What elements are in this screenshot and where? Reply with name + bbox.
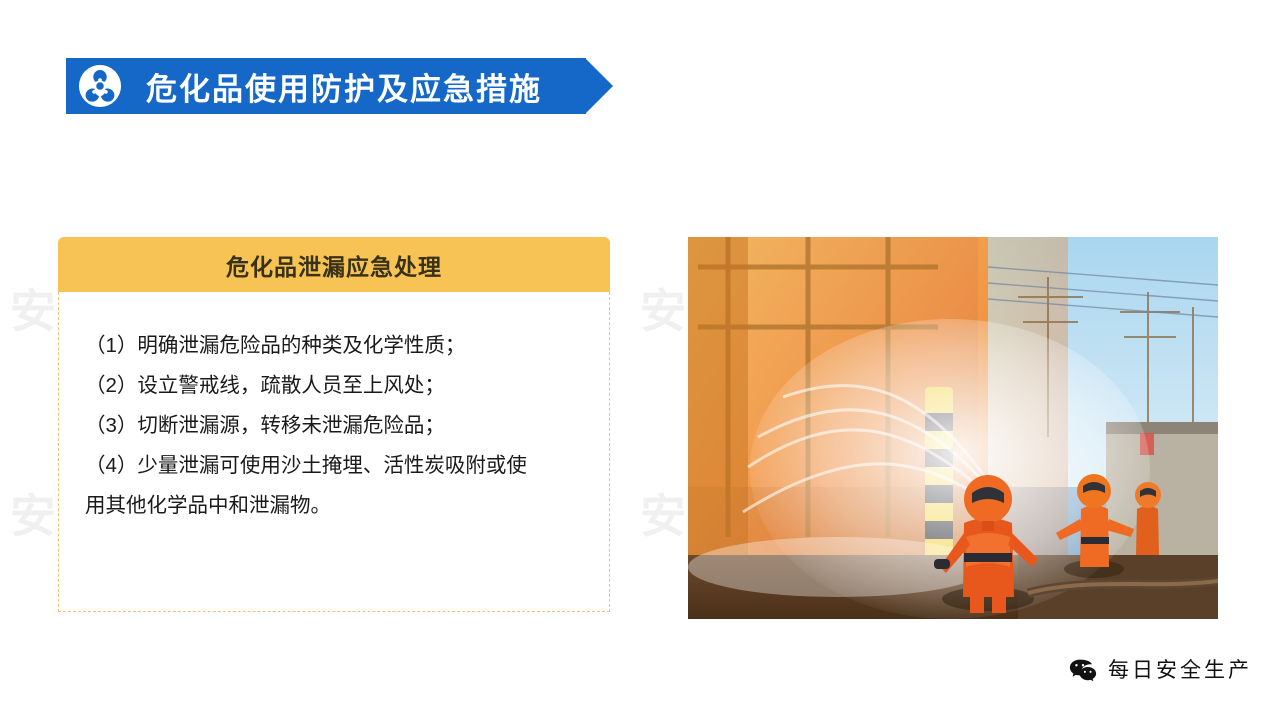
biohazard-icon (79, 65, 121, 107)
header-icon-badge (66, 58, 134, 114)
card-title: 危化品泄漏应急处理 (226, 248, 442, 282)
card-line-1: （1）明确泄漏危险品的种类及化学性质； (85, 326, 583, 366)
card-line-4: （4）少量泄漏可使用沙土掩埋、活性炭吸附或使 (85, 446, 583, 486)
footer-brand: 每日安全生产 (1068, 654, 1252, 684)
header-title-bar: 危化品使用防护及应急措施 (134, 58, 586, 114)
card-header: 危化品泄漏应急处理 (58, 237, 610, 292)
card-line-2: （2）设立警戒线，疏散人员至上风处； (85, 366, 583, 406)
emergency-response-photo (688, 237, 1218, 619)
slide-header: 危化品使用防护及应急措施 (66, 58, 586, 114)
card-body: （1）明确泄漏危险品的种类及化学性质； （2）设立警戒线，疏散人员至上风处； （… (58, 292, 610, 612)
card-line-3: （3）切断泄漏源，转移未泄漏危险品； (85, 406, 583, 446)
page-title: 危化品使用防护及应急措施 (146, 64, 542, 109)
brand-name: 每日安全生产 (1108, 654, 1252, 684)
wechat-icon (1068, 654, 1098, 684)
card-line-5: 用其他化学品中和泄漏物。 (85, 486, 583, 526)
content-card: 危化品泄漏应急处理 （1）明确泄漏危险品的种类及化学性质； （2）设立警戒线，疏… (58, 237, 610, 612)
